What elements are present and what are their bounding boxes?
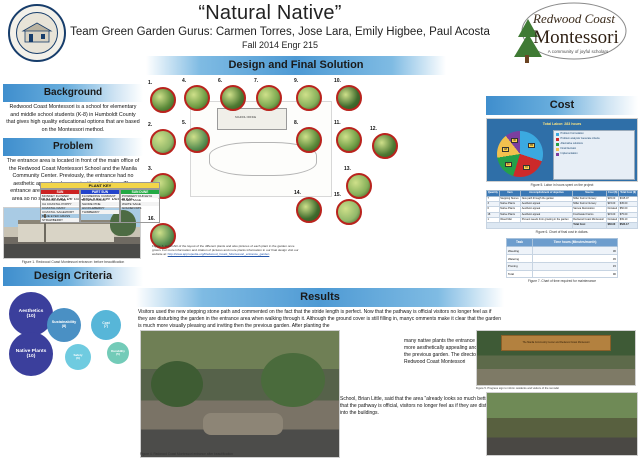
pie-chart-title: Total Labor: 283 hours	[490, 122, 634, 126]
criteria-bubble-weight: (10)	[27, 314, 36, 319]
right-column: Cost Total Labor: 283 hours 8570504830 P…	[486, 96, 638, 283]
maintenance-header-cell: Time hours (Minutes/month)	[533, 238, 618, 247]
plant-photo-thumbnail	[150, 87, 176, 113]
maintenance-cell: Weeding	[507, 247, 533, 255]
legend-row: Implementation	[556, 153, 632, 156]
cad-building-label: SCHOOL OFFICE	[235, 116, 256, 119]
poster-course-line: Fall 2014 Engr 215	[70, 40, 490, 50]
plant-photo-number: 9.	[294, 78, 298, 84]
plant-photo-thumbnail	[184, 127, 210, 153]
figure3-url-link[interactable]: http://www.appropedia.org/Redwood_Coast_…	[168, 252, 270, 256]
plant-photo-thumbnail	[296, 197, 322, 223]
figure5-cost-caption: Figure 5. Labor in hours spent on the pr…	[486, 182, 638, 187]
design-criteria-bubble-chart: Aesthetics(10)Native Plants(10)Sustainab…	[3, 288, 143, 384]
plant-key-column: PART SUNFLOWERING CURRANTBLUE BLOSSOMSHO…	[80, 189, 120, 223]
plant-photo-number: 7.	[254, 78, 258, 84]
hsu-seal-logo	[8, 4, 66, 62]
cost-table-total-cell: Total Cost	[572, 223, 606, 228]
pie-slice-label: 30	[511, 138, 518, 143]
legend-color-swatch	[556, 138, 559, 141]
figure5-caption: Figure 5. Progress sign to inform reside…	[476, 387, 636, 390]
plant-photo-thumbnail	[296, 85, 322, 111]
plant-photo-number: 4.	[182, 78, 186, 84]
plant-photo-number: 6.	[218, 78, 222, 84]
table-row: Weeding30	[507, 247, 618, 255]
photo-stepping-stones	[203, 413, 283, 435]
left-column: Background Redwood Coast Montessori is a…	[3, 84, 143, 377]
plant-photo-thumbnail	[336, 199, 362, 225]
figure5-progress-sign-photo: The Manila Community Center and Redwood …	[476, 330, 636, 386]
rcm-logo-line2: Montessori	[533, 27, 619, 48]
legend-color-swatch	[556, 148, 559, 151]
plant-key-columns: SUNMONKEY FLOWERCOASTAL ASTERCA COASTAL …	[40, 189, 160, 223]
table-row: Watering45	[507, 255, 618, 263]
legend-row: Alternative solutions	[556, 143, 632, 146]
pie-slice-label: 85	[528, 143, 535, 148]
background-text: Redwood Coast Montessori is a school for…	[3, 102, 143, 134]
photo-road	[4, 244, 140, 258]
legend-label: Problem analysis/ Generate criteria	[561, 138, 600, 141]
criteria-bubble-weight: (8)	[62, 325, 67, 329]
poster-team-line: Team Green Garden Gurus: Carmen Torres, …	[70, 26, 490, 38]
photo-bush-left	[151, 361, 203, 407]
legend-label: Alternative solutions	[561, 143, 583, 146]
criteria-bubble-weight: (7)	[104, 325, 108, 328]
maintenance-cell: Watering	[507, 255, 533, 263]
maintenance-table-header-row: TaskTime hours (Minutes/month)	[507, 238, 618, 247]
plant-photo-thumbnail	[296, 127, 322, 153]
criteria-bubble-weight: (5)	[116, 353, 120, 356]
rcm-logo-tagline: A community of joyful scholars	[548, 49, 609, 54]
criteria-bubble-sustainability: Sustainability(8)	[47, 308, 81, 342]
maintenance-table-body: Weeding30Watering45Pruning15Total90	[507, 247, 618, 278]
plant-photo-thumbnail	[346, 173, 372, 199]
cad-school-office-building	[217, 108, 287, 130]
cost-table-total-cell: $524.17	[619, 223, 638, 228]
photo-bush-right	[261, 353, 325, 407]
plant-photo-thumbnail	[256, 85, 282, 111]
photo-building	[18, 220, 114, 242]
plant-photo-number: 3.	[148, 166, 152, 172]
cost-table-body: 7Stepping StonesNew path through the gar…	[487, 196, 638, 228]
redwood-coast-montessori-logo: Redwood Coast Montessori A community of …	[496, 1, 636, 63]
poster-canvas: “Natural Native” Team Green Garden Gurus…	[0, 0, 640, 461]
legend-row: Problem Formulation	[556, 133, 632, 136]
plant-key-item: STRAWBERRY	[41, 218, 79, 222]
maintenance-cell: 30	[533, 247, 618, 255]
problem-section-banner: Problem	[3, 138, 143, 156]
results-paragraph-1: Visitors used the new stepping stone pat…	[136, 307, 504, 330]
plant-photo-thumbnail	[336, 85, 362, 111]
sign-board: The Manila Community Center and Redwood …	[501, 335, 611, 351]
rcm-logo-line1: Redwood Coast	[532, 11, 615, 26]
legend-color-swatch	[556, 133, 559, 136]
plant-photo-number: 15.	[334, 192, 341, 198]
results-section: Results Visitors used the new stepping s…	[136, 288, 504, 330]
plant-photo-number: 8.	[294, 120, 298, 126]
maintenance-cell: 45	[533, 255, 618, 263]
cost-table-total-row: Total Cost$60.00$524.17	[487, 223, 638, 228]
legend-color-swatch	[556, 143, 559, 146]
plant-key-table: PLANT KEY SUNMONKEY FLOWERCOASTAL ASTERC…	[40, 182, 160, 223]
pie-slice-label: 50	[505, 162, 512, 167]
figure4-caption: Figure 4. Redwood Coast Montessori entra…	[140, 452, 360, 456]
maintenance-cell: Total	[507, 270, 533, 278]
criteria-bubble-weight: (10)	[27, 354, 36, 359]
seal-building-icon	[19, 20, 55, 46]
plant-key-column: SUN DUNEPOWDERY DUDLEYABLACK SAGEWHITE S…	[120, 189, 160, 223]
rcm-logo-art: Redwood Coast Montessori A community of …	[496, 1, 636, 63]
results-banner: Results	[136, 288, 504, 307]
legend-color-swatch	[556, 153, 559, 156]
plant-photo-number: 13.	[344, 166, 351, 172]
maintenance-cell: Pruning	[507, 262, 533, 270]
plant-photo-thumbnail	[150, 129, 176, 155]
design-solution-banner: Design and Final Solution	[146, 56, 446, 75]
sign-board-text: The Manila Community Center and Redwood …	[502, 336, 610, 344]
table-row: Pruning15	[507, 262, 618, 270]
criteria-bubble-cost: Cost(7)	[91, 310, 121, 340]
criteria-bubble-weight: (6)	[76, 357, 80, 360]
plant-photo-number: 1.	[148, 80, 152, 86]
bottom-right-garden-photo	[486, 392, 638, 456]
figure1-caption: Figure 1. Redwood Coast Montessori entra…	[3, 259, 143, 264]
figure7-caption: Figure 7. Chart of time required for mai…	[486, 278, 638, 283]
criteria-bubble-native-plants: Native Plants(10)	[9, 332, 53, 376]
cost-breakdown-table: QuantityItemAccomplishment of objectiveS…	[486, 190, 638, 229]
plant-photo-number: 2.	[148, 122, 152, 128]
pie-chart-legend: Problem FormulationProblem analysis/ Gen…	[553, 130, 635, 180]
poster-title: “Natural Native”	[70, 2, 470, 25]
plant-photo-thumbnail	[184, 85, 210, 111]
plant-photo-number: 5.	[182, 120, 186, 126]
maintenance-time-table: TaskTime hours (Minutes/month) Weeding30…	[506, 238, 618, 279]
labor-pie-chart: Total Labor: 283 hours 8570504830 Proble…	[486, 118, 638, 182]
maintenance-header-cell: Task	[507, 238, 533, 247]
figure6-caption: Figure 6. Chart of final cost in dollars…	[486, 229, 638, 234]
plant-photo-thumbnail	[372, 133, 398, 159]
plant-photo-number: 12.	[370, 126, 377, 132]
hsu-seal-inner	[16, 12, 58, 54]
legend-label: Implementation	[561, 153, 578, 156]
cost-table-total-cell	[487, 223, 573, 228]
pie-slice-label: 48	[502, 147, 509, 152]
legend-row: Final Decision	[556, 148, 632, 151]
table-row: Total90	[507, 270, 618, 278]
cost-table-total-cell: $60.00	[607, 223, 619, 228]
plant-photo-thumbnail	[220, 85, 246, 111]
criteria-bubble-durability: Durability(5)	[107, 342, 129, 364]
cost-section-banner: Cost	[486, 96, 638, 115]
plant-photo-number: 11.	[334, 120, 341, 126]
design-criteria-banner: Design Criteria	[3, 267, 143, 286]
legend-row: Problem analysis/ Generate criteria	[556, 138, 632, 141]
plant-key-item: THIMBERRY	[81, 210, 119, 214]
maintenance-cell: 90	[533, 270, 618, 278]
plant-key-item: GOLDEN IRIS	[121, 206, 159, 210]
criteria-bubble-aesthetics: Aesthetics(10)	[9, 292, 53, 336]
criteria-bubble-safety: Safety(6)	[65, 344, 91, 370]
plant-photo-number: 10.	[334, 78, 341, 84]
pie-chart-graphic: 8570504830	[497, 131, 543, 177]
figure4-photo-after	[140, 330, 340, 458]
plant-key-title: PLANT KEY	[40, 182, 160, 189]
plant-key-column: SUNMONKEY FLOWERCOASTAL ASTERCA COASTAL …	[40, 189, 80, 223]
legend-label: Final Decision	[561, 148, 577, 151]
background-section-banner: Background	[3, 84, 143, 102]
plant-photo-number: 14.	[294, 190, 301, 196]
plant-photo-thumbnail	[336, 127, 362, 153]
pie-slice-label: 70	[523, 165, 530, 170]
legend-label: Problem Formulation	[561, 133, 584, 136]
maintenance-cell: 15	[533, 262, 618, 270]
figure3-caption-block: Figure 3. AutoCAD of the layout of the d…	[152, 244, 302, 257]
